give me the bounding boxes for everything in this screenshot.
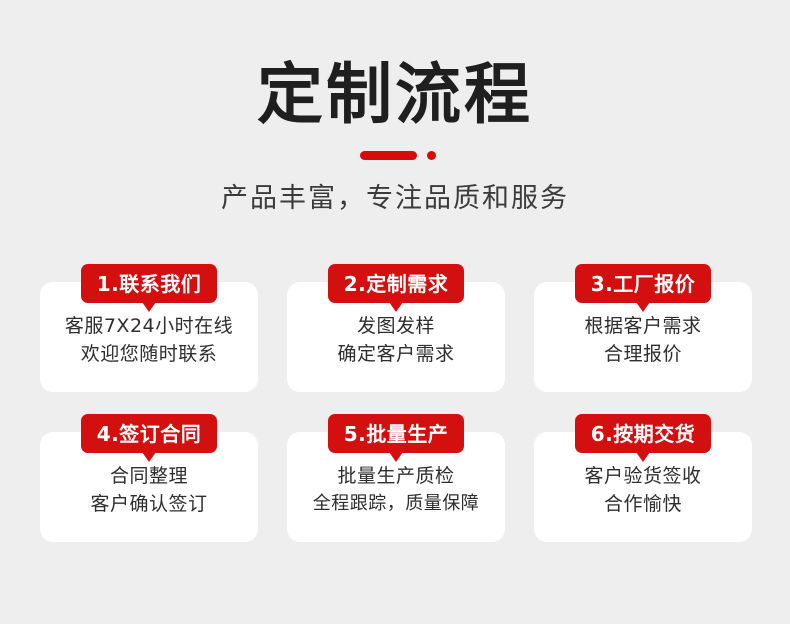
step-body: 根据客户需求 合理报价 bbox=[534, 312, 752, 368]
title-divider bbox=[0, 146, 790, 166]
step-body: 合同整理 客户确认签订 bbox=[40, 462, 258, 518]
step-body: 客户验货签收 合作愉快 bbox=[534, 462, 752, 518]
step-badge-wrap: 6.按期交货 bbox=[534, 414, 752, 453]
step-badge: 2.定制需求 bbox=[328, 264, 465, 303]
step-body-line-2: 确定客户需求 bbox=[287, 340, 505, 368]
step-body-line-1: 根据客户需求 bbox=[534, 312, 752, 340]
step-body: 批量生产质检 全程跟踪，质量保障 bbox=[287, 462, 505, 518]
step-body-line-1: 客服7X24小时在线 bbox=[40, 312, 258, 340]
step-body-line-2: 客户确认签订 bbox=[40, 490, 258, 518]
step-badge: 4.签订合同 bbox=[81, 414, 218, 453]
process-step-6: 6.按期交货 客户验货签收 合作愉快 bbox=[534, 414, 752, 542]
page-header: 定制流程 产品丰富，专注品质和服务 bbox=[0, 0, 790, 216]
page-title: 定制流程 bbox=[0, 0, 790, 132]
step-badge-wrap: 4.签订合同 bbox=[40, 414, 258, 453]
step-badge-wrap: 5.批量生产 bbox=[287, 414, 505, 453]
process-step-4: 4.签订合同 合同整理 客户确认签订 bbox=[40, 414, 258, 542]
step-body-line-1: 客户验货签收 bbox=[534, 462, 752, 490]
step-body-line-1: 批量生产质检 bbox=[287, 462, 505, 490]
step-body-line-2: 欢迎您随时联系 bbox=[40, 340, 258, 368]
step-badge-wrap: 1.联系我们 bbox=[40, 264, 258, 303]
step-body: 客服7X24小时在线 欢迎您随时联系 bbox=[40, 312, 258, 368]
page-subtitle: 产品丰富，专注品质和服务 bbox=[0, 166, 790, 216]
customization-process-page: 定制流程 产品丰富，专注品质和服务 1.联系我们 客服7X24小时在线 欢迎您随… bbox=[0, 0, 790, 624]
step-body-line-2: 合理报价 bbox=[534, 340, 752, 368]
step-body-line-1: 发图发样 bbox=[287, 312, 505, 340]
divider-dot-icon bbox=[427, 151, 436, 160]
step-badge: 6.按期交货 bbox=[575, 414, 712, 453]
step-body-line-1: 合同整理 bbox=[40, 462, 258, 490]
process-steps-grid: 1.联系我们 客服7X24小时在线 欢迎您随时联系 2.定制需求 发图发样 确定… bbox=[40, 264, 752, 542]
divider-bar-icon bbox=[360, 151, 417, 160]
process-step-5: 5.批量生产 批量生产质检 全程跟踪，质量保障 bbox=[287, 414, 505, 542]
step-body-line-2: 合作愉快 bbox=[534, 490, 752, 518]
step-badge-wrap: 2.定制需求 bbox=[287, 264, 505, 303]
step-badge: 5.批量生产 bbox=[328, 414, 465, 453]
step-badge-wrap: 3.工厂报价 bbox=[534, 264, 752, 303]
process-step-2: 2.定制需求 发图发样 确定客户需求 bbox=[287, 264, 505, 392]
step-badge: 3.工厂报价 bbox=[575, 264, 712, 303]
process-step-1: 1.联系我们 客服7X24小时在线 欢迎您随时联系 bbox=[40, 264, 258, 392]
process-step-3: 3.工厂报价 根据客户需求 合理报价 bbox=[534, 264, 752, 392]
step-badge: 1.联系我们 bbox=[81, 264, 218, 303]
step-body: 发图发样 确定客户需求 bbox=[287, 312, 505, 368]
step-body-line-2: 全程跟踪，质量保障 bbox=[287, 490, 505, 518]
